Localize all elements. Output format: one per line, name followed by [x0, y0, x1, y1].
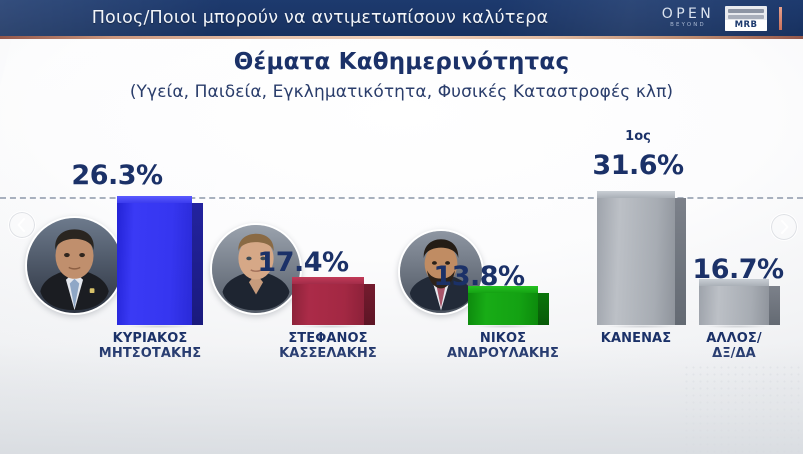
bar-front-face — [292, 284, 364, 325]
bar-side-face — [769, 286, 780, 325]
bar-category-label: ΚΥΡΙΑΚΟΣ ΜΗΤΣΟΤΑΚΗΣ — [70, 331, 230, 361]
bar-top-face — [292, 277, 364, 284]
bar-value-label: 31.6% — [573, 150, 703, 181]
mrb-logo-stripe — [728, 15, 764, 19]
bar-front-face — [699, 286, 769, 325]
bar-nikos-androulakis — [468, 293, 538, 325]
top-header-bar: Ποιος/Ποιοι μπορούν να αντιμετωπίσουν κα… — [0, 0, 803, 36]
header-accent-bar — [779, 7, 782, 30]
bar-value-label: 26.3% — [52, 160, 182, 191]
bar-category-label-line1: ΑΛΛΟΣ/ — [664, 331, 803, 346]
open-logo-text: OPEN — [657, 7, 719, 21]
bars-plot-area: 26.3% ΚΥΡΙΑΚΟΣ ΜΗΤΣΟΤΑΚΗΣ — [0, 39, 803, 454]
beyond-logo-text: BEYOND — [657, 23, 719, 28]
bar-kanenas — [597, 198, 675, 325]
portrait-kyriakos-mitsotakis — [27, 218, 122, 313]
mrb-logo-stripe — [728, 9, 764, 13]
bar-rank-annotation: 1ος — [578, 129, 698, 144]
mrb-logo: MRB — [725, 6, 767, 31]
bar-top-face — [699, 279, 769, 286]
bar-category-label: ΣΤΕΦΑΝΟΣ ΚΑΣΣΕΛΑΚΗΣ — [248, 331, 408, 361]
bar-front-face — [597, 198, 675, 325]
bar-category-label-line2: ΚΑΣΣΕΛΑΚΗΣ — [248, 346, 408, 361]
bar-front-face — [117, 203, 192, 325]
bar-front-face — [468, 293, 538, 325]
bar-side-face — [538, 293, 549, 325]
chart-canvas: Θέματα Καθημερινότητας (Υγεία, Παιδεία, … — [0, 39, 803, 454]
bar-side-face — [364, 284, 375, 325]
bar-category-label-line1: ΝΙΚΟΣ — [423, 331, 583, 346]
open-beyond-logo: OPEN BEYOND — [657, 7, 719, 31]
bar-category-label-line1: ΣΤΕΦΑΝΟΣ — [248, 331, 408, 346]
bar-category-label: ΑΛΛΟΣ/ ΔΞ/ΔΑ — [664, 331, 803, 361]
bar-allos — [699, 286, 769, 325]
mrb-logo-text: MRB — [725, 20, 767, 31]
bar-value-label: 17.4% — [228, 247, 378, 278]
bar-top-face — [117, 196, 192, 203]
bar-category-label-line2: ΔΞ/ΔΑ — [664, 346, 803, 361]
bar-category-label-line1: ΚΥΡΙΑΚΟΣ — [70, 331, 230, 346]
avatar — [25, 216, 124, 315]
header-question-title: Ποιος/Ποιοι μπορούν να αντιμετωπίσουν κα… — [0, 8, 640, 28]
bar-top-face — [468, 286, 538, 293]
bar-stefanos-kasselakis — [292, 284, 364, 325]
bar-top-face — [597, 191, 675, 198]
bar-side-face — [192, 203, 203, 325]
bar-category-label: ΝΙΚΟΣ ΑΝΔΡΟΥΛΑΚΗΣ — [423, 331, 583, 361]
broadcast-poll-graphic: Ποιος/Ποιοι μπορούν να αντιμετωπίσουν κα… — [0, 0, 803, 454]
bar-category-label-line2: ΜΗΤΣΟΤΑΚΗΣ — [70, 346, 230, 361]
bar-category-label-line2: ΑΝΔΡΟΥΛΑΚΗΣ — [423, 346, 583, 361]
bar-kyriakos-mitsotakis — [117, 203, 192, 325]
